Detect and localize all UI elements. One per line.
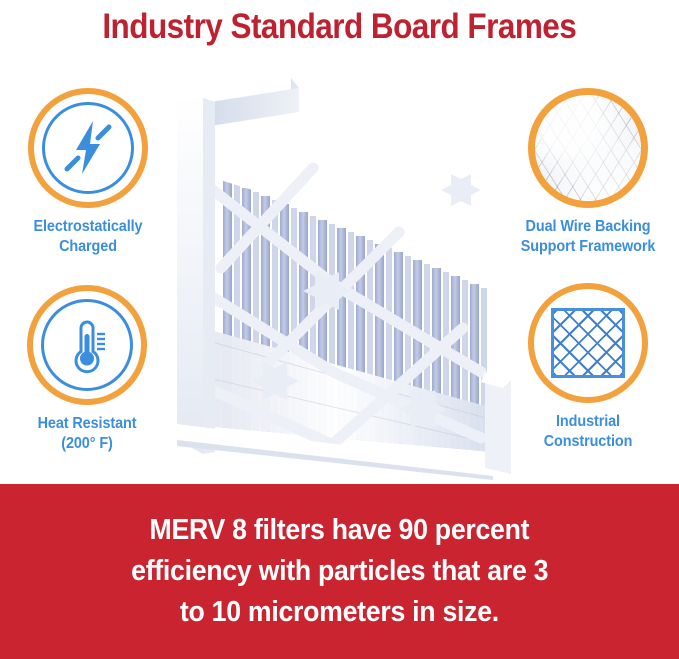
feature-icon-ring (528, 88, 648, 208)
feature-icon-ring (28, 88, 148, 208)
feature-dual-wire-backing: Dual Wire Backing Support Framework (498, 88, 678, 258)
wire-mesh-photo-icon (535, 95, 641, 201)
lightning-bolt-no-static-icon (42, 102, 134, 194)
feature-caption: Heat Resistant (200° F) (3, 414, 170, 455)
feature-caption-line: Dual Wire Backing (504, 217, 671, 237)
thermometer-icon (41, 299, 133, 391)
feature-icon-ring (528, 283, 648, 403)
feature-electrostatically-charged: Electrostatically Charged (0, 88, 178, 258)
feature-caption-line: Heat Resistant (3, 414, 170, 434)
feature-caption-line: (200° F) (3, 434, 170, 454)
feature-caption-line: Electrostatically (4, 217, 171, 237)
feature-caption: Electrostatically Charged (4, 217, 171, 258)
banner-line: to 10 micrometers in size. (180, 592, 499, 633)
pleated-air-filter-render (163, 72, 515, 480)
feature-caption-line: Industrial (504, 412, 671, 432)
feature-caption-line: Support Framework (504, 237, 671, 257)
feature-heat-resistant: Heat Resistant (200° F) (0, 285, 177, 455)
feature-caption: Dual Wire Backing Support Framework (504, 217, 671, 258)
feature-caption-line: Construction (504, 432, 671, 452)
merv-rating-banner: MERV 8 filters have 90 percent efficienc… (0, 484, 679, 659)
feature-industrial-construction: Industrial Construction (498, 283, 678, 453)
feature-caption: Industrial Construction (504, 412, 671, 453)
banner-line: MERV 8 filters have 90 percent (150, 510, 530, 551)
infographic-page: Industry Standard Board Frames Electrost… (0, 0, 679, 659)
banner-line: efficiency with particles that are 3 (131, 551, 548, 592)
feature-icon-ring (27, 285, 147, 405)
feature-caption-line: Charged (4, 237, 171, 257)
page-title: Industry Standard Board Frames (103, 9, 577, 44)
title-bar: Industry Standard Board Frames (0, 0, 679, 52)
lattice-grid-icon (551, 308, 625, 378)
